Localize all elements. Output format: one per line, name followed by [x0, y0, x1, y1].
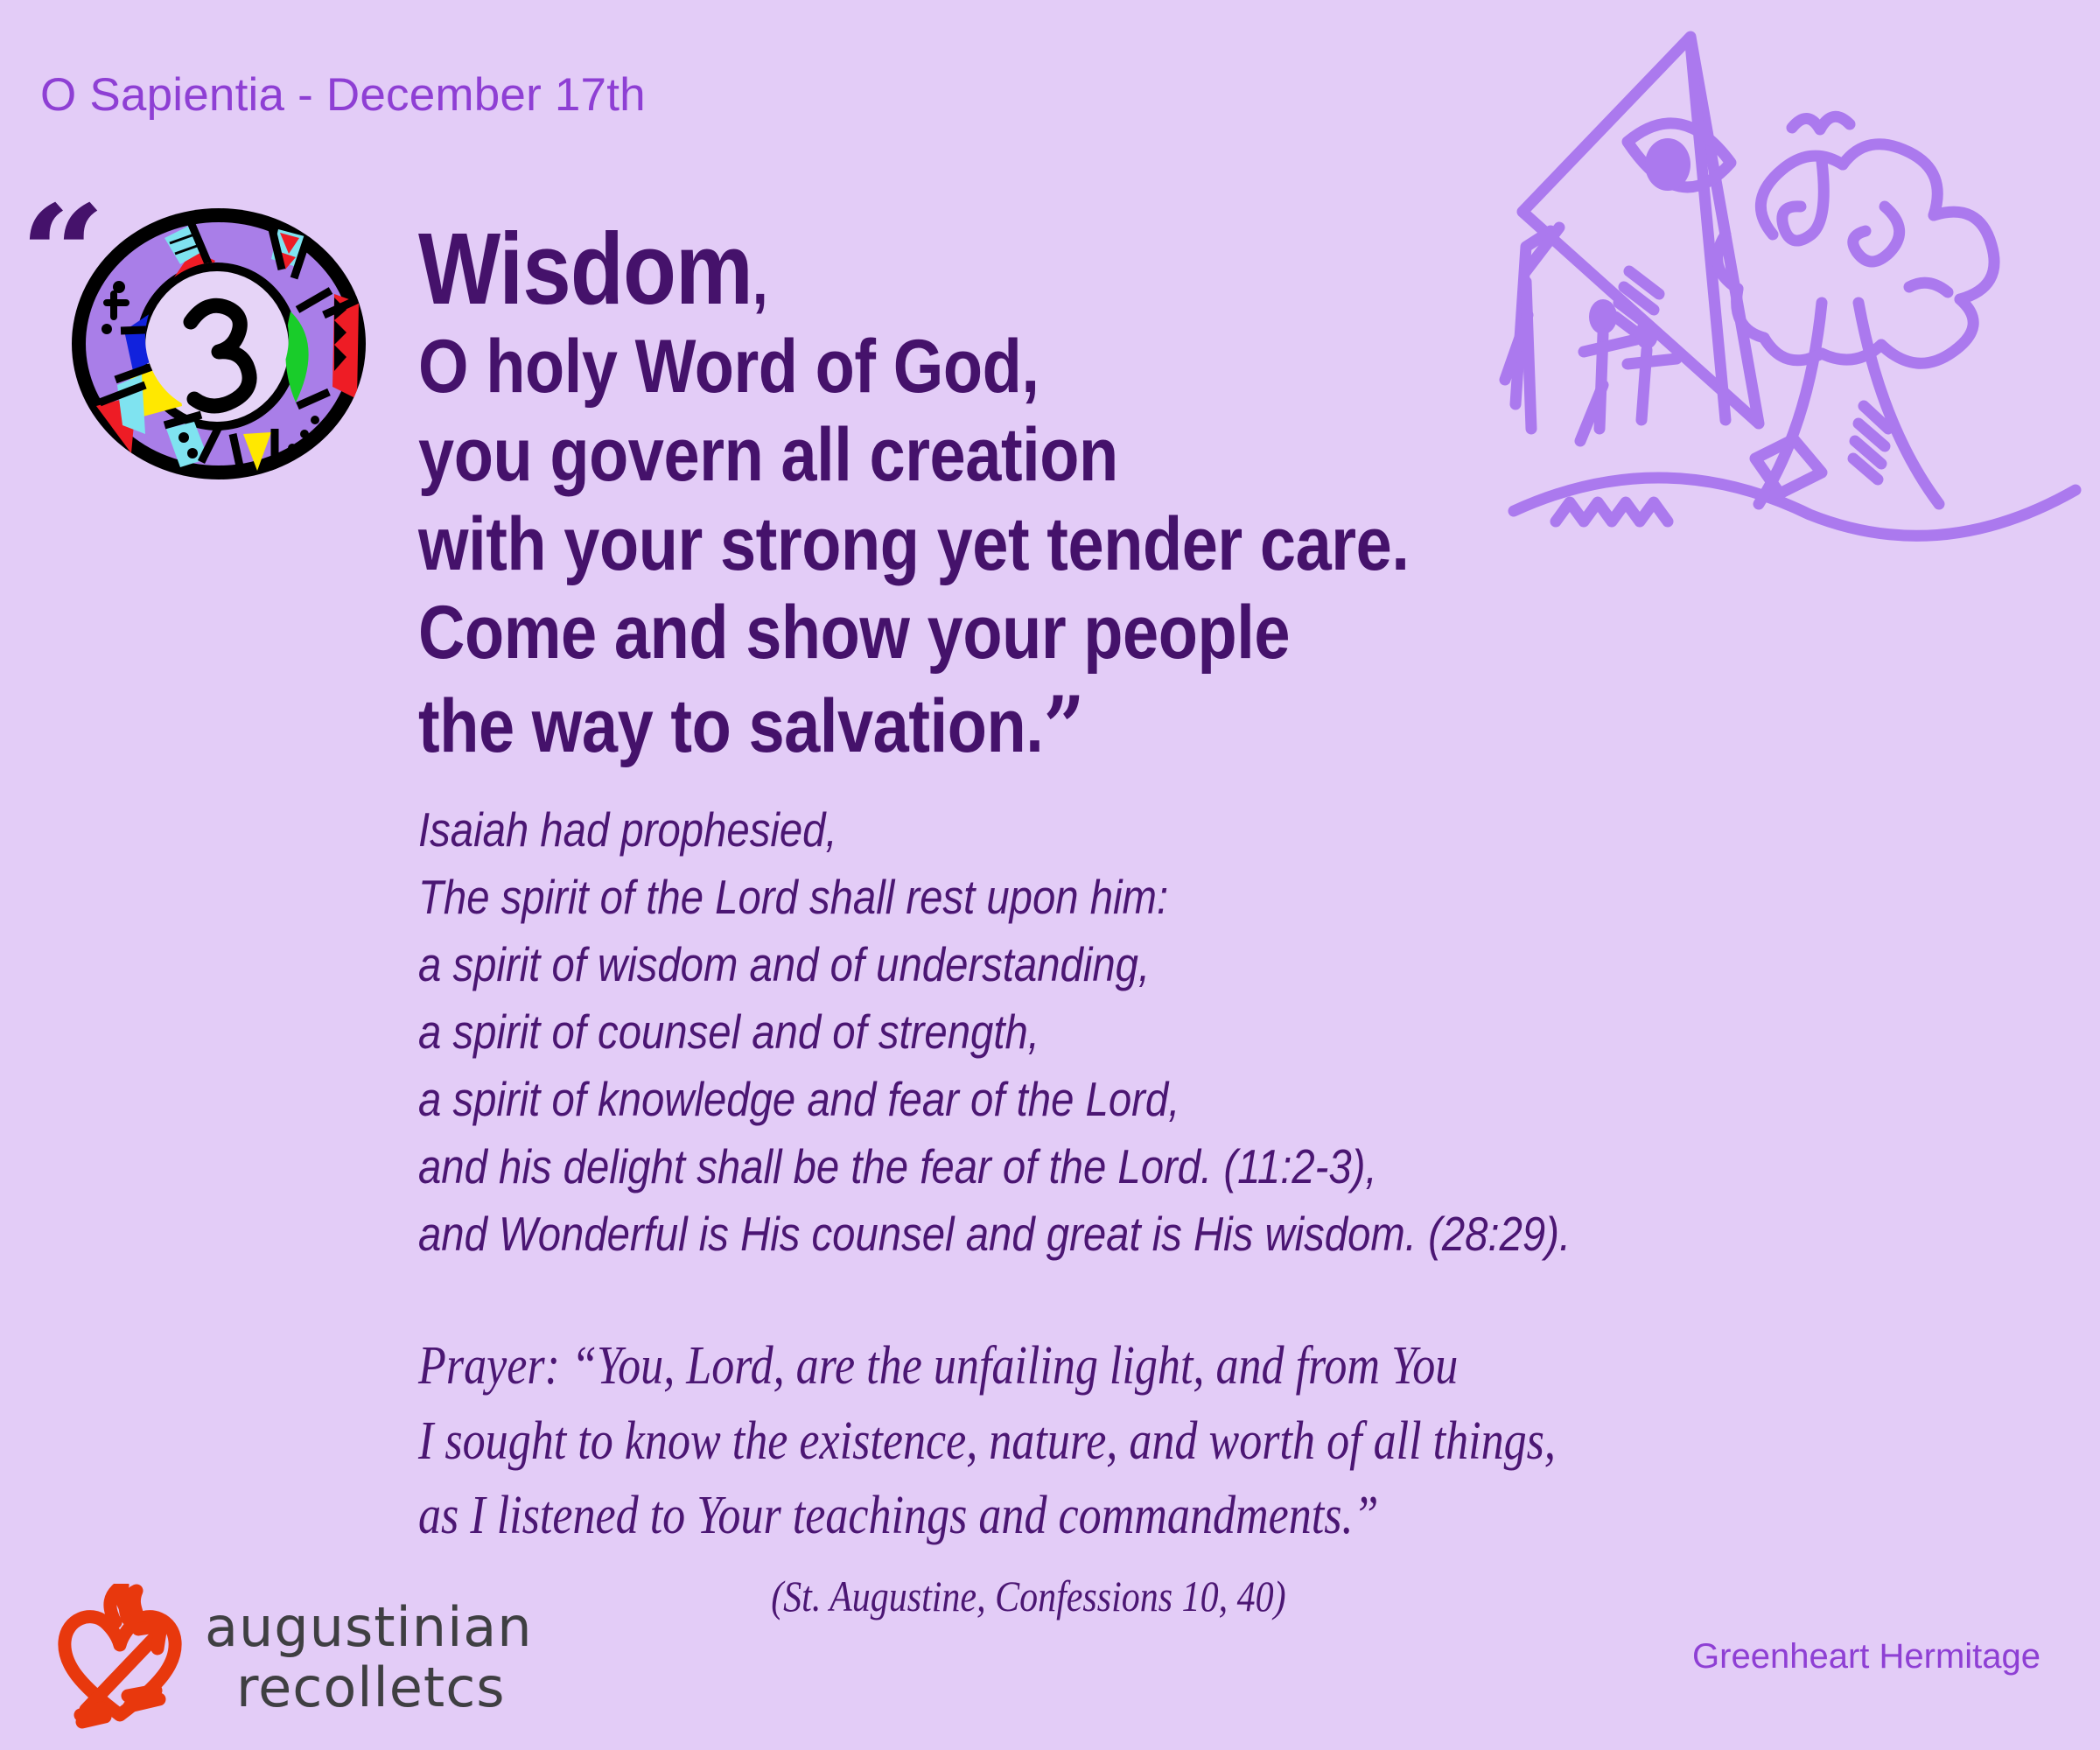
antiphon-first-word: Wisdom	[418, 212, 752, 325]
prayer-line-3: as I listened to Your teachings and comm…	[418, 1479, 1800, 1554]
close-quote-mark: ”	[1043, 678, 1084, 777]
page-title: O Sapientia - December 17th	[40, 68, 646, 122]
logo-wordmark: augustinian recolletcs	[205, 1597, 533, 1718]
logo-word-line-1: augustinian	[205, 1597, 533, 1657]
prayer-block: Prayer: “You, Lord, are the unfailing li…	[418, 1329, 1800, 1627]
poster-canvas: O Sapientia - December 17th “	[0, 0, 2100, 1750]
antiphon-first-line: Wisdom,	[418, 215, 1833, 323]
scripture-line-7: and Wonderful is His counsel and great i…	[418, 1200, 1833, 1268]
antiphon-line-1: O holy Word of God,	[418, 323, 1833, 411]
scripture-line-3: a spirit of wisdom and of understanding,	[418, 931, 1833, 998]
logo-word-line-2: recolletcs	[205, 1657, 533, 1718]
prayer-line-2: I sought to know the existence, nature, …	[418, 1404, 1800, 1480]
flaming-heart-icon	[54, 1584, 185, 1731]
antiphon-first-word-comma: ,	[752, 245, 767, 318]
augustinian-recollects-logo: augustinian recolletcs	[54, 1584, 533, 1731]
scripture-line-2: The spirit of the Lord shall rest upon h…	[418, 864, 1833, 931]
antiphon-line-3: with your strong yet tender care.	[418, 500, 1833, 589]
scripture-line-1: Isaiah had prophesied,	[418, 796, 1833, 864]
scripture-line-4: a spirit of counsel and of strength,	[418, 998, 1833, 1066]
antiphon-line-5: the way to salvation.”	[418, 678, 1833, 777]
prayer-attribution: (St. Augustine, Confessions 10, 40)	[418, 1566, 1800, 1627]
scripture-line-6: and his delight shall be the fear of the…	[418, 1133, 1833, 1200]
antiphon-line-4: Come and show your people	[418, 589, 1833, 677]
scripture-line-5: a spirit of knowledge and fear of the Lo…	[418, 1066, 1833, 1133]
antiphon-block: Wisdom, O holy Word of God, you govern a…	[418, 215, 2063, 777]
main-text-column: Wisdom, O holy Word of God, you govern a…	[418, 215, 2063, 1627]
scripture-block: Isaiah had prophesied, The spirit of the…	[418, 796, 1833, 1268]
antiphon-line-5-text: the way to salvation.	[418, 684, 1043, 768]
antiphon-line-2: you govern all creation	[418, 411, 1833, 500]
illuminated-letter-o-icon	[61, 199, 376, 488]
prayer-line-1: Prayer: “You, Lord, are the unfailing li…	[418, 1329, 1800, 1404]
credit-text: Greenheart Hermitage	[1692, 1637, 2040, 1676]
